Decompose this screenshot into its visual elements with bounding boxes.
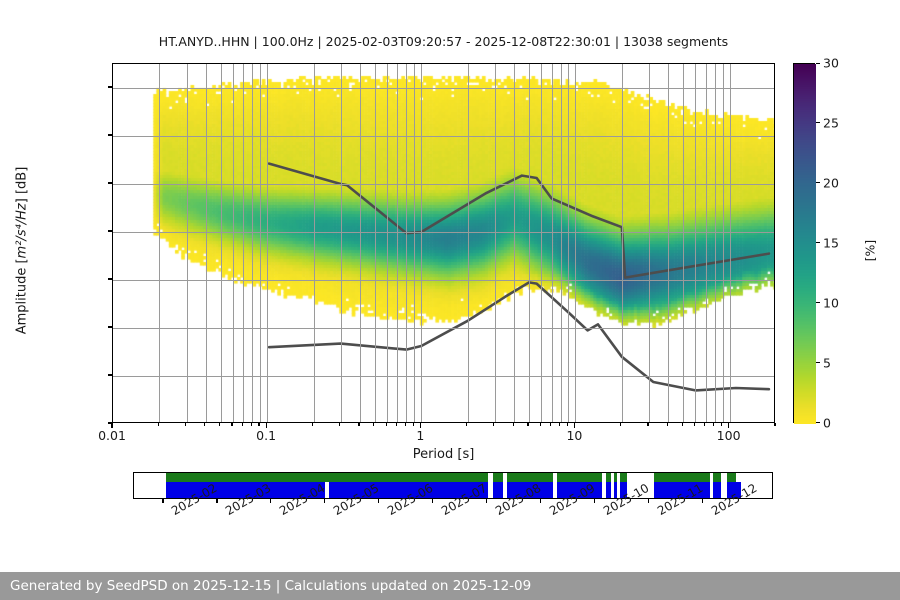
timeline-segment-top bbox=[620, 473, 626, 482]
timeline-segment-top bbox=[166, 473, 488, 482]
gridline-vertical bbox=[706, 64, 707, 422]
page-title: HT.ANYD..HHN | 100.0Hz | 2025-02-03T09:2… bbox=[112, 34, 775, 49]
timeline-tick-mark bbox=[216, 499, 217, 503]
gridline-vertical bbox=[341, 64, 342, 422]
colorbar-tick-label: 10 bbox=[823, 296, 839, 311]
timeline-tick-mark bbox=[594, 499, 595, 503]
timeline-tick-mark bbox=[270, 499, 271, 503]
gridline-horizontal bbox=[113, 328, 774, 329]
gridline-vertical bbox=[514, 64, 515, 422]
gridline-vertical bbox=[267, 64, 268, 422]
colorbar-tick-label: 20 bbox=[823, 176, 839, 191]
colorbar-tick-label: 25 bbox=[823, 116, 839, 131]
x-axis-tick-mark-minor bbox=[721, 423, 722, 426]
colorbar-tick-label: 0 bbox=[823, 416, 831, 431]
x-axis-tick-mark-minor bbox=[540, 423, 541, 426]
gridline-vertical bbox=[375, 64, 376, 422]
gridline-vertical bbox=[730, 64, 731, 422]
timeline-segment-bottom bbox=[713, 482, 721, 498]
x-axis-tick-mark-minor bbox=[258, 423, 259, 426]
timeline-segment-top bbox=[507, 473, 553, 482]
timeline-segment-top bbox=[614, 473, 617, 482]
x-axis-tick-mark-minor bbox=[682, 423, 683, 426]
x-axis-tick-mark-minor bbox=[396, 423, 397, 426]
gridline-vertical bbox=[206, 64, 207, 422]
x-axis-tick-mark-minor bbox=[559, 423, 560, 426]
colorbar-tick-mark bbox=[816, 422, 820, 423]
y-axis-tick-mark bbox=[108, 134, 112, 135]
x-axis-tick-mark-minor bbox=[219, 423, 220, 426]
colorbar-gradient bbox=[794, 64, 816, 424]
x-axis-tick-mark-minor bbox=[647, 423, 648, 426]
x-axis-tick-mark-minor bbox=[704, 423, 705, 426]
gridline-horizontal bbox=[113, 376, 774, 377]
timeline-segment-top bbox=[713, 473, 721, 482]
x-axis-tick-label: 10 bbox=[566, 428, 582, 443]
x-axis-label: Period [s] bbox=[112, 447, 775, 462]
timeline-tick-mark bbox=[702, 499, 703, 503]
gridline-vertical bbox=[397, 64, 398, 422]
gridline-vertical bbox=[314, 64, 315, 422]
x-axis-tick-mark-minor bbox=[251, 423, 252, 426]
y-axis-label-pre: Amplitude [ bbox=[15, 258, 30, 334]
colorbar bbox=[793, 63, 815, 423]
colorbar-tick-mark bbox=[816, 302, 820, 303]
x-axis-tick-mark-minor bbox=[312, 423, 313, 426]
timeline-tick-mark bbox=[162, 499, 163, 503]
x-axis-tick-mark-minor bbox=[386, 423, 387, 426]
gridline-vertical bbox=[529, 64, 530, 422]
timeline-tick-mark bbox=[648, 499, 649, 503]
timeline-tick-mark bbox=[378, 499, 379, 503]
x-axis-tick-mark-minor bbox=[466, 423, 467, 426]
x-axis-tick-mark-minor bbox=[550, 423, 551, 426]
gridline-horizontal bbox=[113, 88, 774, 89]
x-axis-tick-mark-minor bbox=[774, 423, 775, 426]
gridline-vertical bbox=[233, 64, 234, 422]
gridline-vertical bbox=[723, 64, 724, 422]
gridline-vertical bbox=[668, 64, 669, 422]
x-axis-tick-mark-minor bbox=[373, 423, 374, 426]
x-axis-tick-label: 1 bbox=[416, 428, 424, 443]
gridline-vertical bbox=[568, 64, 569, 422]
timeline-tick-mark bbox=[486, 499, 487, 503]
timeline-segment-top bbox=[557, 473, 602, 482]
gridline-vertical bbox=[622, 64, 623, 422]
colorbar-tick-mark bbox=[816, 362, 820, 363]
y-axis-tick-mark bbox=[108, 86, 112, 87]
x-axis-tick-mark-minor bbox=[667, 423, 668, 426]
gridline-vertical bbox=[683, 64, 684, 422]
gridline-vertical bbox=[243, 64, 244, 422]
x-axis-tick-mark-minor bbox=[339, 423, 340, 426]
gridline-vertical bbox=[252, 64, 253, 422]
timeline-segment-top bbox=[654, 473, 710, 482]
x-axis-tick-mark-minor bbox=[493, 423, 494, 426]
colorbar-tick-label: 30 bbox=[823, 56, 839, 71]
x-axis-tick-mark-minor bbox=[231, 423, 232, 426]
gridline-vertical bbox=[187, 64, 188, 422]
gridline-vertical bbox=[649, 64, 650, 422]
gridline-horizontal bbox=[113, 232, 774, 233]
gridline-vertical bbox=[221, 64, 222, 422]
x-axis-tick-mark-minor bbox=[527, 423, 528, 426]
x-axis-tick-mark-minor bbox=[358, 423, 359, 426]
gridline-vertical bbox=[495, 64, 496, 422]
timeline-segment-top bbox=[727, 473, 736, 482]
y-axis-tick-mark bbox=[108, 182, 112, 183]
x-axis-tick-mark-minor bbox=[413, 423, 414, 426]
x-axis-tick-mark-minor bbox=[513, 423, 514, 426]
x-axis-tick-mark-minor bbox=[204, 423, 205, 426]
ppsd-plot-area bbox=[112, 63, 775, 423]
x-axis-tick-mark-minor bbox=[158, 423, 159, 426]
colorbar-tick-mark bbox=[816, 63, 820, 64]
timeline-tick-mark bbox=[540, 499, 541, 503]
y-axis-label-units: m²/s⁴/Hz bbox=[15, 203, 30, 258]
y-axis-tick-mark bbox=[108, 278, 112, 279]
timeline-tick-mark bbox=[432, 499, 433, 503]
colorbar-tick-mark bbox=[816, 242, 820, 243]
timeline-segment-top bbox=[493, 473, 503, 482]
x-axis-tick-mark-minor bbox=[242, 423, 243, 426]
colorbar-tick-mark bbox=[816, 182, 820, 183]
gridline-vertical bbox=[387, 64, 388, 422]
timeline-segment-bottom bbox=[493, 482, 503, 498]
gridline-vertical bbox=[360, 64, 361, 422]
x-axis-tick-label: 0.1 bbox=[256, 428, 276, 443]
timeline-tick-mark bbox=[324, 499, 325, 503]
footer-bar: Generated by SeedPSD on 2025-12-15 | Cal… bbox=[0, 572, 900, 600]
x-axis-tick-label: 100 bbox=[717, 428, 741, 443]
x-axis-tick-mark-minor bbox=[405, 423, 406, 426]
colorbar-tick-label: 5 bbox=[823, 356, 831, 371]
gridline-vertical bbox=[541, 64, 542, 422]
timeline-segment-top bbox=[606, 473, 612, 482]
gridline-vertical bbox=[421, 64, 422, 422]
x-axis-tick-mark-minor bbox=[694, 423, 695, 426]
gridline-vertical bbox=[159, 64, 160, 422]
y-axis-label: Amplitude [m²/s⁴/Hz] [dB] bbox=[15, 101, 30, 401]
gridline-vertical bbox=[575, 64, 576, 422]
x-axis-tick-mark-minor bbox=[185, 423, 186, 426]
gridline-vertical bbox=[715, 64, 716, 422]
x-axis-tick-mark-minor bbox=[567, 423, 568, 426]
y-axis-label-post: ] [dB] bbox=[15, 167, 30, 204]
timeline-segment-bottom bbox=[606, 482, 612, 498]
gridline-horizontal bbox=[113, 280, 774, 281]
colorbar-tick-mark bbox=[816, 122, 820, 123]
x-axis-tick-label: 0.01 bbox=[98, 428, 126, 443]
low-noise-model-curve bbox=[269, 282, 769, 390]
high-noise-model-curve bbox=[269, 164, 769, 278]
y-axis-tick-mark bbox=[108, 374, 112, 375]
gridline-vertical bbox=[414, 64, 415, 422]
gridline-horizontal bbox=[113, 136, 774, 137]
x-axis-tick-mark-minor bbox=[620, 423, 621, 426]
gridline-vertical bbox=[260, 64, 261, 422]
y-axis-tick-mark bbox=[108, 230, 112, 231]
x-axis-tick-mark-minor bbox=[713, 423, 714, 426]
gridline-horizontal bbox=[113, 184, 774, 185]
gridline-vertical bbox=[468, 64, 469, 422]
colorbar-tick-label: 15 bbox=[823, 236, 839, 251]
noise-model-curves bbox=[113, 64, 775, 423]
gridline-vertical bbox=[561, 64, 562, 422]
colorbar-unit-label: [%] bbox=[863, 191, 878, 311]
footer-text: Generated by SeedPSD on 2025-12-15 | Cal… bbox=[10, 572, 531, 600]
y-axis-tick-mark bbox=[108, 326, 112, 327]
gridline-vertical bbox=[552, 64, 553, 422]
gridline-vertical bbox=[695, 64, 696, 422]
gridline-vertical bbox=[406, 64, 407, 422]
